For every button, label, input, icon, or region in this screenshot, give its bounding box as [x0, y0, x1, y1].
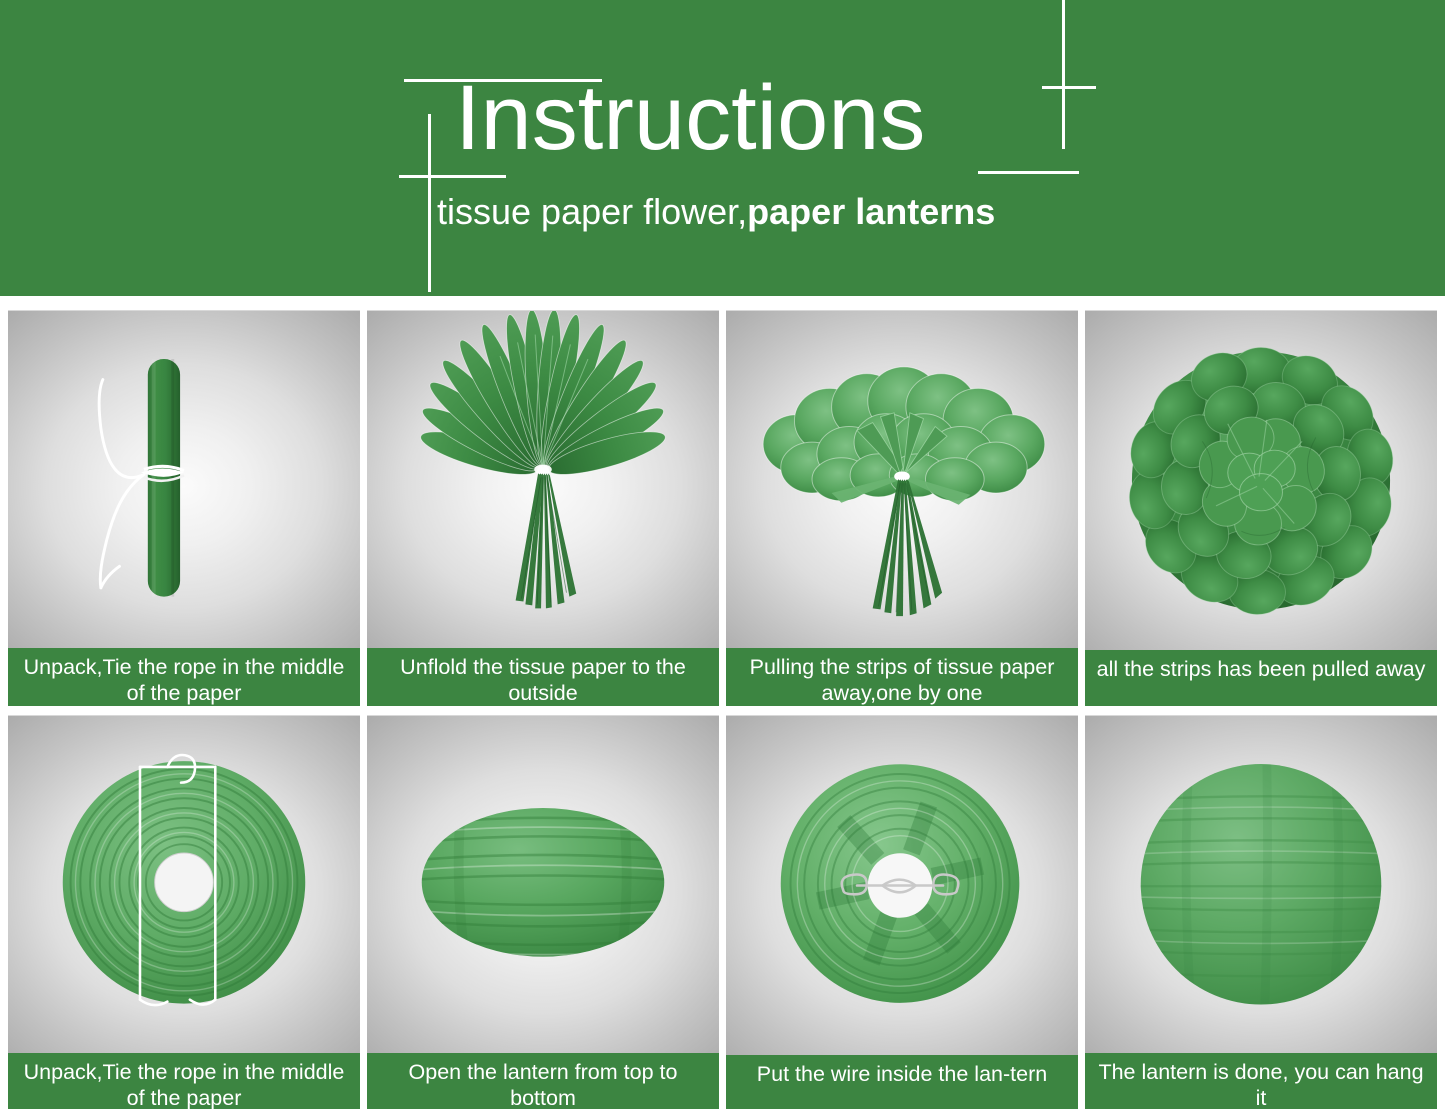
step-6-photo [367, 715, 719, 1053]
half-pulled-pompom-icon [726, 311, 1078, 648]
unfolded-fan-tissue-paper-icon [367, 311, 719, 648]
step-4-photo [1085, 310, 1437, 650]
decor-line-horizontal-left [399, 175, 506, 178]
step-panel-5: Unpack,Tie the rope in the middle of the… [8, 715, 360, 1109]
row-tissue-paper-flower: Unpack,Tie the rope in the middle of the… [8, 310, 1437, 706]
steps-grid: Unpack,Tie the rope in the middle of the… [0, 296, 1445, 1109]
decor-line-underline [978, 171, 1079, 174]
step-panel-8: The lantern is done, you can hang it [1085, 715, 1437, 1109]
subtitle-part-two: paper lanterns [747, 191, 995, 232]
lantern-top-view-with-wire-icon [726, 716, 1078, 1055]
step-1-caption: Unpack,Tie the rope in the middle of the… [8, 648, 360, 706]
flat-collapsed-lantern-with-wire-icon [8, 716, 360, 1053]
step-2-caption: Unflold the tissue paper to the outside [367, 648, 719, 706]
step-7-caption-text: Put the wire inside the lan-tern [757, 1061, 1047, 1087]
page-title: Instructions [455, 72, 925, 164]
folded-paper-strip-with-string-icon [8, 311, 360, 648]
step-2-photo [367, 310, 719, 648]
step-1-photo [8, 310, 360, 648]
step-5-caption-text: Unpack,Tie the rope in the middle of the… [14, 1059, 354, 1109]
decor-line-vertical-left [428, 114, 431, 292]
step-panel-2: Unflold the tissue paper to the outside [367, 310, 719, 706]
step-3-caption: Pulling the strips of tissue paper away,… [726, 648, 1078, 706]
step-5-photo [8, 715, 360, 1053]
step-2-caption-text: Unflold the tissue paper to the outside [373, 654, 713, 706]
step-8-caption: The lantern is done, you can hang it [1085, 1053, 1437, 1109]
page-subtitle: tissue paper flower,paper lanterns [437, 192, 995, 232]
row-paper-lantern: Unpack,Tie the rope in the middle of the… [8, 715, 1437, 1109]
subtitle-part-one: tissue paper flower, [437, 191, 747, 232]
step-7-photo [726, 715, 1078, 1055]
step-panel-1: Unpack,Tie the rope in the middle of the… [8, 310, 360, 706]
step-panel-7: Put the wire inside the lan-tern [726, 715, 1078, 1109]
step-8-caption-text: The lantern is done, you can hang it [1091, 1059, 1431, 1109]
step-4-caption: all the strips has been pulled away [1085, 650, 1437, 706]
decor-line-horizontal-right [1042, 86, 1096, 89]
step-7-caption: Put the wire inside the lan-tern [726, 1055, 1078, 1109]
step-1-caption-text: Unpack,Tie the rope in the middle of the… [14, 654, 354, 706]
finished-pompom-ball-icon [1085, 311, 1437, 650]
step-4-caption-text: all the strips has been pulled away [1097, 656, 1426, 682]
step-panel-4: all the strips has been pulled away [1085, 310, 1437, 706]
step-3-caption-text: Pulling the strips of tissue paper away,… [732, 654, 1072, 706]
header-banner: Instructions tissue paper flower,paper l… [0, 0, 1445, 296]
finished-round-lantern-icon [1085, 716, 1437, 1053]
instruction-sheet: Instructions tissue paper flower,paper l… [0, 0, 1445, 1109]
decor-line-vertical-right [1062, 0, 1065, 149]
step-6-caption-text: Open the lantern from top to bottom [373, 1059, 713, 1109]
step-panel-6: Open the lantern from top to bottom [367, 715, 719, 1109]
step-3-photo [726, 310, 1078, 648]
step-8-photo [1085, 715, 1437, 1053]
partially-opened-lantern-icon [367, 716, 719, 1053]
step-6-caption: Open the lantern from top to bottom [367, 1053, 719, 1109]
step-5-caption: Unpack,Tie the rope in the middle of the… [8, 1053, 360, 1109]
step-panel-3: Pulling the strips of tissue paper away,… [726, 310, 1078, 706]
